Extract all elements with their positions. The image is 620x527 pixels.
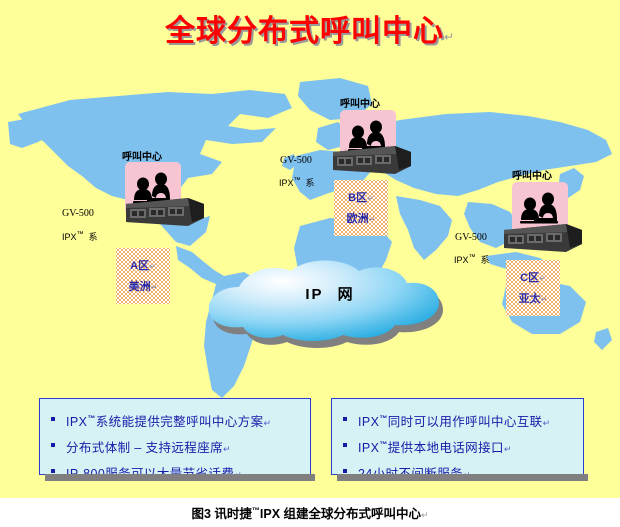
- yellow-slide-area: 全球分布式呼叫中心↵: [0, 0, 620, 498]
- gv-500-device-europe: [333, 144, 411, 176]
- region-box-europe: B区↵ 欧洲↵: [334, 180, 388, 236]
- device-label-americas: GV-500: [62, 208, 94, 219]
- region-name-americas: 美洲↵: [116, 277, 170, 298]
- ip-network-cloud: IP网: [195, 243, 465, 348]
- region-box-asiapac: C区↵ 亚太↵: [506, 260, 560, 316]
- ipx-suffix-asiapac: 系: [476, 255, 490, 265]
- region-box-americas: A区↵ 美洲↵: [116, 248, 170, 304]
- info-bullet-left-1: IPX™系统能提供完整呼叫中心方案↵: [40, 408, 310, 434]
- slide-canvas: 全球分布式呼叫中心↵: [0, 0, 620, 527]
- ipx-label-americas: IPX™系: [62, 230, 98, 243]
- ipx-tm-americas: ™: [77, 231, 84, 238]
- info-bullet-left-2: 分布式体制 – 支持远程座席↵: [40, 434, 310, 460]
- region-code-asiapac: C区↵: [506, 268, 560, 289]
- network-label-text: 网: [338, 286, 355, 303]
- caption-brand: 讯时捷: [214, 507, 252, 521]
- info-box-left: IPX™系统能提供完整呼叫中心方案↵ 分布式体制 – 支持远程座席↵ IP-80…: [39, 398, 311, 475]
- caption-figure-number: 图3: [191, 507, 210, 521]
- caption-text: IPX 组建全球分布式呼叫中心: [260, 507, 421, 521]
- pilcrow-mark: ↵: [444, 30, 455, 44]
- ipx-text-asiapac: IPX: [454, 255, 469, 265]
- ipx-tm-asiapac: ™: [469, 254, 476, 261]
- caption-tm: ™: [252, 506, 260, 515]
- ipx-label-asiapac: IPX™系: [454, 253, 490, 266]
- call-center-label-asiapac: 呼叫中心: [512, 167, 552, 182]
- info-list-left: IPX™系统能提供完整呼叫中心方案↵ 分布式体制 – 支持远程座席↵ IP-80…: [40, 399, 310, 493]
- info-bullet-right-3: 24小时不间断服务↵: [332, 460, 583, 486]
- region-code-europe: B区↵: [334, 188, 388, 209]
- region-name-europe: 欧洲↵: [334, 209, 388, 230]
- page-title: 全球分布式呼叫中心↵: [0, 6, 620, 50]
- figure-caption: 图3 讯时捷™IPX 组建全球分布式呼叫中心↵: [0, 503, 620, 522]
- info-list-right: IPX™同时可以用作呼叫中心互联↵ IPX™提供本地电话网接口↵ 24小时不间断…: [332, 399, 583, 493]
- ip-label-text: IP: [305, 286, 323, 303]
- ipx-label-europe: IPX™系: [279, 176, 315, 189]
- ipx-suffix-americas: 系: [84, 232, 98, 242]
- info-bullet-left-3: IP-800服务可以大量节省话费↵: [40, 460, 310, 486]
- call-center-label-americas: 呼叫中心: [122, 148, 162, 163]
- device-label-asiapac: GV-500: [455, 232, 487, 243]
- info-bullet-right-2: IPX™提供本地电话网接口↵: [332, 434, 583, 460]
- info-bullet-right-1: IPX™同时可以用作呼叫中心互联↵: [332, 408, 583, 434]
- region-name-asiapac: 亚太↵: [506, 289, 560, 310]
- ipx-tm-europe: ™: [294, 177, 301, 184]
- caption-pilcrow: ↵: [421, 510, 429, 520]
- ip-network-label: IP网: [195, 283, 465, 304]
- page-title-text: 全球分布式呼叫中心: [165, 15, 444, 48]
- info-box-right: IPX™同时可以用作呼叫中心互联↵ IPX™提供本地电话网接口↵ 24小时不间断…: [331, 398, 584, 475]
- ipx-text-americas: IPX: [62, 232, 77, 242]
- ipx-text-europe: IPX: [279, 178, 294, 188]
- ipx-suffix-europe: 系: [301, 178, 315, 188]
- region-code-americas: A区↵: [116, 256, 170, 277]
- gv-500-device-americas: [126, 196, 204, 228]
- device-label-europe: GV-500: [280, 155, 312, 166]
- call-center-label-europe: 呼叫中心: [340, 95, 380, 110]
- gv-500-device-asiapac: [504, 222, 582, 254]
